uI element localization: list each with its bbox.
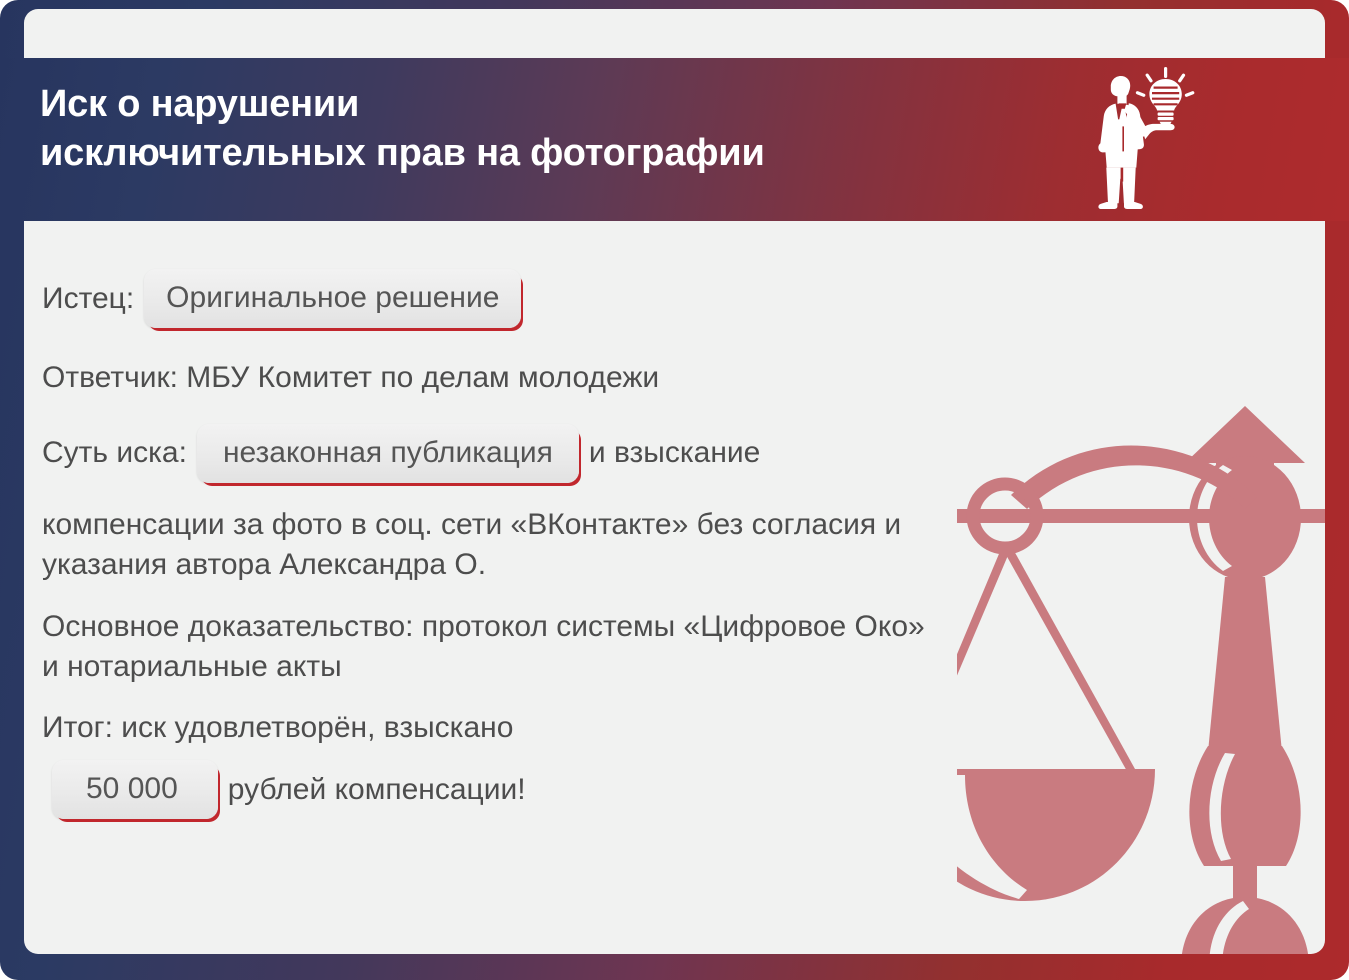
- spacer: [42, 328, 1042, 358]
- case-details: Истец: Оригинальное решение Ответчик: МБ…: [42, 269, 1042, 819]
- businessman-with-idea-bulb-icon: [1079, 63, 1199, 218]
- defendant-row: Ответчик: МБУ Комитет по делам молодежи: [42, 358, 942, 398]
- case-card-frame: Иск о нарушении исключительных прав на ф…: [0, 0, 1349, 980]
- amount-tail: рублей компенсации!: [228, 770, 526, 810]
- plaintiff-chip[interactable]: Оригинальное решение: [144, 269, 521, 328]
- claim-tail: и взыскание: [589, 433, 761, 473]
- spacer: [42, 748, 1042, 760]
- spacer: [42, 398, 1042, 424]
- plaintiff-row: Истец: Оригинальное решение: [42, 269, 1042, 328]
- card-body: Истец: Оригинальное решение Ответчик: МБ…: [24, 221, 1325, 954]
- evidence-row: Основное доказательство: протокол систем…: [42, 607, 942, 687]
- spacer: [42, 585, 1042, 607]
- outcome-row: Итог: иск удовлетворён, взыскано: [42, 708, 942, 748]
- amount-row: 50 000 рублей компенсации!: [42, 760, 1042, 819]
- plaintiff-label: Истец:: [42, 279, 134, 319]
- page-title: Иск о нарушении исключительных прав на ф…: [40, 80, 940, 178]
- claim-label: Суть иска:: [42, 433, 187, 473]
- spacer: [42, 686, 1042, 708]
- claim-chip[interactable]: незаконная публикация: [197, 424, 579, 483]
- amount-chip[interactable]: 50 000: [52, 760, 218, 819]
- claim-row: Суть иска: незаконная публикация и взыск…: [42, 424, 1042, 483]
- claim-body: компенсации за фото в соц. сети «ВКонтак…: [42, 505, 942, 585]
- card-header: Иск о нарушении исключительных прав на ф…: [0, 58, 1349, 221]
- spacer: [42, 483, 1042, 505]
